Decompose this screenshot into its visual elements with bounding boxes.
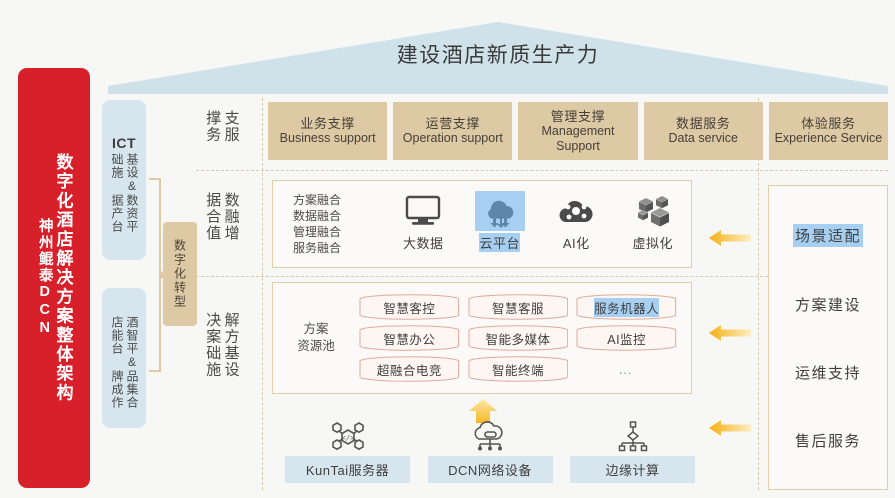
pool-item-smart-multimedia[interactable]: 智能多媒体	[468, 325, 569, 351]
support-box-management[interactable]: 管理支撑 Management Support	[518, 102, 637, 160]
support-data-en: Data service	[668, 131, 737, 146]
pool-item-smart-terminal[interactable]: 智能终端	[468, 356, 569, 382]
right-service-scenario-adaptation[interactable]: 场景适配	[793, 224, 863, 247]
right-service-operations-support[interactable]: 运维支持	[795, 362, 861, 383]
row-label-data-col-left: 据合值	[203, 192, 221, 242]
support-management-cn: 管理支撑	[551, 109, 605, 124]
ai-cloud-icon	[556, 191, 596, 231]
fusion-label-1: 数据融合	[293, 208, 385, 224]
right-service-after-sales[interactable]: 售后服务	[795, 430, 861, 451]
row-label-solution-col-left: 决案础施	[203, 312, 221, 378]
hotel-text-col-left: 店能台 牌成作	[109, 316, 124, 409]
fusion-item-cloud[interactable]: 云平台	[464, 191, 536, 252]
resource-pool-label-line1: 方案	[273, 321, 359, 338]
fusion-icon-list: 大数据 云平台	[385, 191, 691, 258]
right-services-panel: 场景适配 方案建设 运维支持 售后服务	[768, 185, 888, 490]
pool-item-hyperconverged-esports[interactable]: 超融合电竞	[359, 356, 460, 382]
fusion-label-3: 服务融合	[293, 240, 385, 256]
support-business-cn: 业务支撑	[300, 116, 354, 131]
hotel-text: 酒智平&品集合 店能台 牌成作	[109, 316, 139, 409]
flow-arrow-resource-pool-icon	[708, 323, 752, 343]
pool-label-service-robot: 服务机器人	[594, 298, 659, 317]
resource-pool-label: 方案 资源池	[273, 321, 359, 355]
pool-item-ai-monitoring[interactable]: AI监控	[576, 325, 677, 351]
row-label-support-services: 支服 撑务	[203, 110, 240, 143]
support-management-en: Management Support	[518, 124, 637, 154]
pool-label-smart-multimedia: 智能多媒体	[485, 329, 550, 348]
pool-item-service-robot[interactable]: 服务机器人	[576, 294, 677, 320]
pool-item-smart-room-control[interactable]: 智慧客控	[359, 294, 460, 320]
infra-label-dcn-network: DCN网络设备	[428, 456, 553, 483]
data-fusion-panel: 方案融合 数据融合 管理融合 服务融合 大数据	[272, 180, 692, 268]
ict-text: 基设&数资平 础施 据产台	[109, 153, 139, 233]
flow-arrow-infrastructure-icon	[708, 418, 752, 438]
banner-main-title: 数字化酒店解决方案整体架构	[54, 153, 72, 403]
row-label-solution-infrastructure: 解方基设 决案础施	[203, 312, 240, 378]
support-experience-en: Experience Service	[775, 131, 883, 146]
support-operation-en: Operation support	[403, 131, 503, 146]
infra-item-kuntai-server[interactable]: </> KunTai服务器	[285, 418, 410, 488]
resource-pool-panel: 方案 资源池 智慧客控 智慧客服 服务机器人 智慧办公 智能多	[272, 282, 692, 394]
pool-item-smart-customer-service[interactable]: 智慧客服	[468, 294, 569, 320]
row-label-support-col-right: 支服	[221, 110, 239, 143]
fusion-caption-bigdata: 大数据	[403, 233, 444, 252]
support-box-business[interactable]: 业务支撑 Business support	[268, 102, 387, 160]
support-data-cn: 数据服务	[676, 116, 730, 131]
divider-support-data	[196, 170, 888, 171]
pool-label-ai-monitoring: AI监控	[607, 329, 646, 348]
row-label-solution-col-right: 解方基设	[221, 312, 239, 378]
cloud-network-icon	[470, 418, 510, 452]
infra-item-edge-computing[interactable]: 边缘计算	[570, 418, 695, 488]
fusion-item-ai[interactable]: AI化	[540, 191, 612, 252]
support-services-row: 业务支撑 Business support 运营支撑 Operation sup…	[268, 102, 888, 160]
fusion-label-0: 方案融合	[293, 192, 385, 208]
support-box-experience[interactable]: 体验服务 Experience Service	[769, 102, 888, 160]
fusion-item-bigdata[interactable]: 大数据	[387, 191, 459, 252]
architecture-diagram: 数字化酒店解决方案整体架构 神州鲲泰DCN 建设酒店新质生产力 ICT 基设&数…	[0, 0, 895, 498]
infrastructure-row: </> KunTai服务器	[285, 418, 695, 488]
hotel-text-col-right: 酒智平&品集合	[124, 316, 139, 409]
fusion-caption-ai: AI化	[563, 233, 590, 252]
pool-label-smart-office: 智慧办公	[383, 329, 435, 348]
fusion-caption-virtualization: 虚拟化	[632, 233, 673, 252]
support-box-data-service[interactable]: 数据服务 Data service	[644, 102, 763, 160]
svg-text:</>: </>	[341, 434, 354, 442]
cloud-sync-icon	[475, 191, 525, 231]
right-service-solution-construction[interactable]: 方案建设	[795, 294, 861, 315]
fusion-label-2: 管理融合	[293, 224, 385, 240]
pillar-ict: ICT 基设&数资平 础施 据产台	[102, 100, 146, 260]
support-business-en: Business support	[280, 131, 376, 146]
fusion-caption-cloud: 云平台	[479, 233, 520, 252]
digital-transformation-box: 数字化转型	[163, 222, 197, 326]
row-label-data-fusion: 数融增 据合值	[203, 192, 240, 242]
support-box-operation[interactable]: 运营支撑 Operation support	[393, 102, 512, 160]
fusion-label-list: 方案融合 数据融合 管理融合 服务融合	[273, 192, 385, 257]
infra-item-dcn-network[interactable]: DCN网络设备	[428, 418, 553, 488]
infra-label-kuntai-server: KunTai服务器	[285, 456, 410, 483]
pool-label-smart-customer-service: 智慧客服	[492, 298, 544, 317]
ict-text-col-right: 基设&数资平	[124, 153, 139, 233]
title-banner: 数字化酒店解决方案整体架构 神州鲲泰DCN	[18, 68, 90, 488]
support-operation-cn: 运营支撑	[426, 116, 480, 131]
fusion-item-virtualization[interactable]: 虚拟化	[617, 191, 689, 252]
divider-label-content	[262, 98, 263, 490]
pool-label-smart-room-control: 智慧客控	[383, 298, 435, 317]
resource-pool-grid: 智慧客控 智慧客服 服务机器人 智慧办公 智能多媒体 AI监控	[359, 294, 691, 382]
pool-label-hyperconverged-esports: 超融合电竞	[377, 360, 442, 379]
resource-pool-label-line2: 资源池	[273, 338, 359, 355]
pool-item-more: …	[576, 356, 677, 382]
server-nodes-icon: </>	[330, 418, 366, 452]
roof-title: 建设酒店新质生产力	[108, 22, 888, 94]
digital-transformation-label: 数字化转型	[172, 239, 189, 309]
banner-sub-title: 神州鲲泰DCN	[36, 218, 51, 338]
flow-arrow-data-fusion-icon	[708, 228, 752, 248]
pool-label-smart-terminal: 智能终端	[492, 360, 544, 379]
monitor-icon	[405, 191, 441, 231]
pillar-hotel-platform: 酒智平&品集合 店能台 牌成作	[102, 288, 146, 428]
pool-label-more: …	[618, 361, 635, 377]
support-experience-cn: 体验服务	[801, 116, 855, 131]
row-label-data-col-right: 数融增	[221, 192, 239, 242]
roof-shape: 建设酒店新质生产力	[108, 22, 888, 94]
ict-text-col-left: 础施 据产台	[109, 153, 124, 233]
edge-tree-icon	[616, 418, 650, 452]
pool-item-smart-office[interactable]: 智慧办公	[359, 325, 460, 351]
cubes-icon	[634, 191, 672, 231]
row-label-support-col-left: 撑务	[203, 110, 221, 143]
infra-label-edge-computing: 边缘计算	[570, 456, 695, 483]
ict-abbr-label: ICT	[112, 135, 136, 151]
